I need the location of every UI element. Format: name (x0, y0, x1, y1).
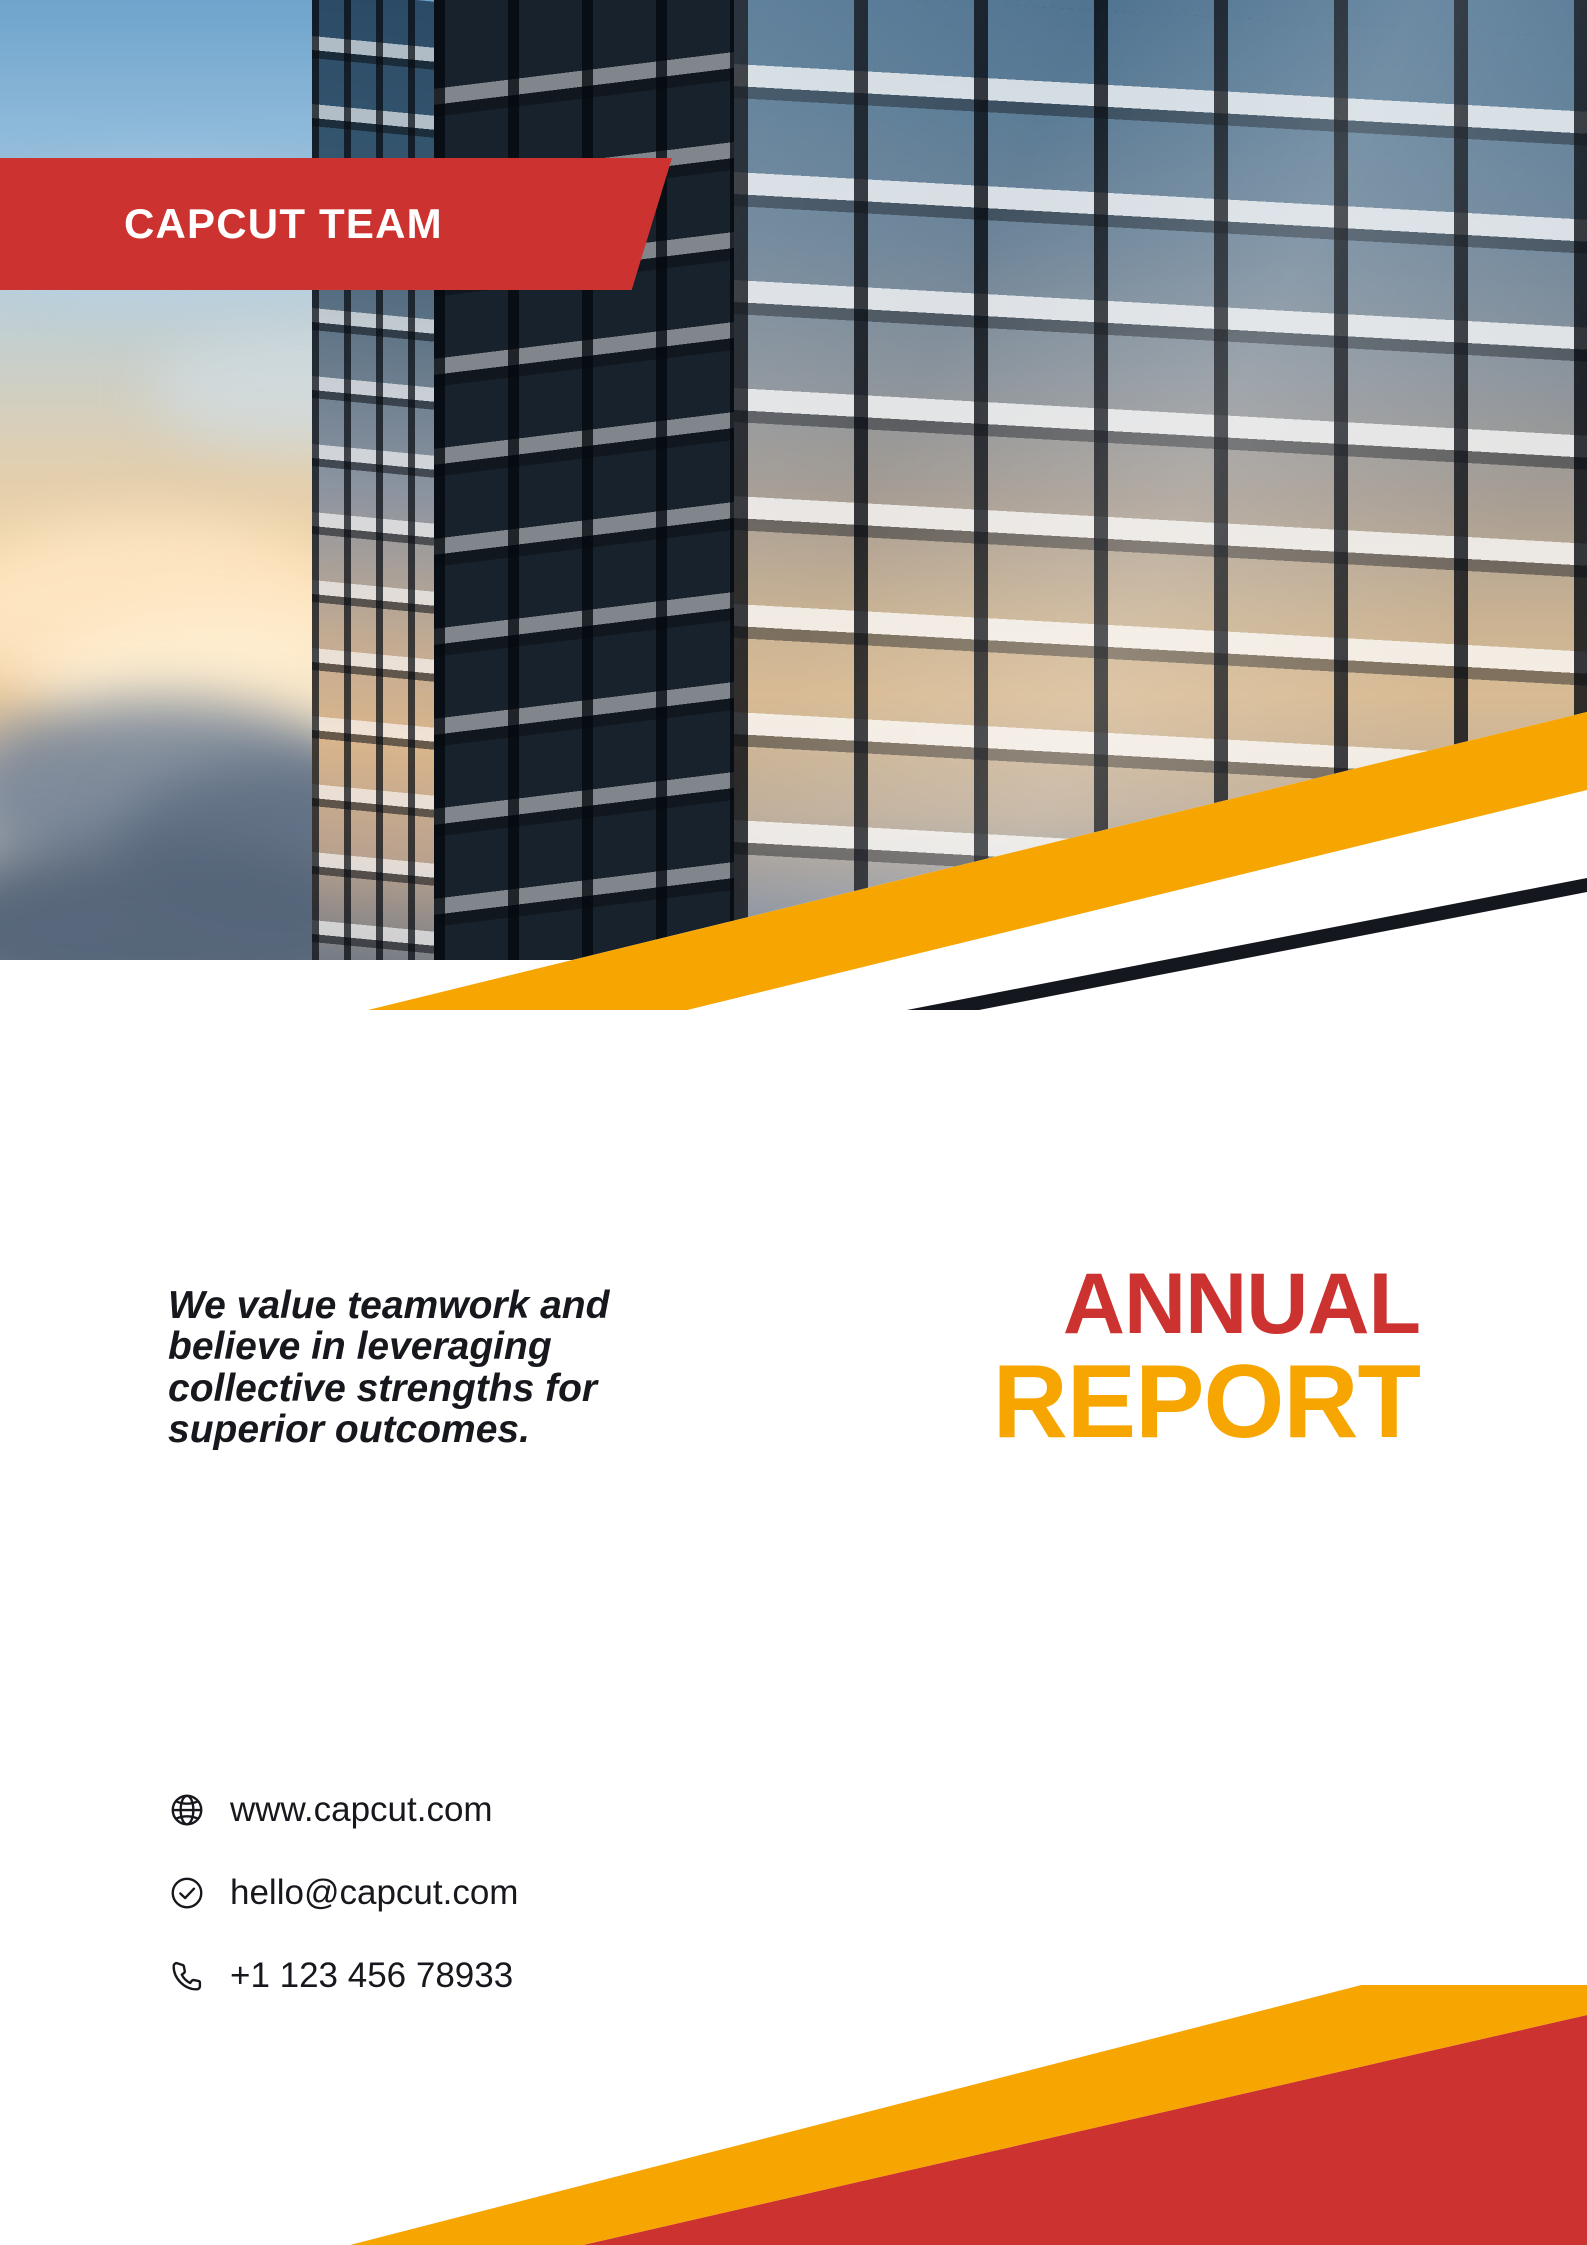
headline-line-annual: ANNUAL (780, 1262, 1420, 1346)
left-mullions (312, 0, 434, 960)
team-banner-label: CAPCUT TEAM (124, 200, 443, 248)
report-cover-page: CAPCUT TEAM We value teamwork and believ… (0, 0, 1587, 2245)
globe-icon (166, 1789, 208, 1831)
page-title: ANNUAL REPORT (780, 1262, 1420, 1454)
hero-photo (0, 0, 1587, 960)
contact-label-website: www.capcut.com (230, 1790, 493, 1830)
shaft-mullions (434, 0, 734, 960)
bottom-red-wedge (583, 2015, 1587, 2245)
contact-row-email[interactable]: hello@capcut.com (166, 1851, 518, 1934)
year-badge-label: 2024 (1219, 1922, 1353, 1993)
office-tower (312, 0, 1587, 960)
check-circle-icon (166, 1872, 208, 1914)
contact-list: www.capcut.com hello@capcut.com +1 123 4… (166, 1768, 518, 2017)
tagline-text: We value teamwork and believe in leverag… (168, 1285, 638, 1450)
team-banner: CAPCUT TEAM (0, 158, 672, 290)
contact-row-phone[interactable]: +1 123 456 78933 (166, 1934, 518, 2017)
contact-label-email: hello@capcut.com (230, 1873, 518, 1913)
phone-icon (166, 1955, 208, 1997)
headline-line-report: REPORT (780, 1352, 1420, 1454)
year-badge: 2024 (1145, 1816, 1427, 2098)
contact-row-website[interactable]: www.capcut.com (166, 1768, 518, 1851)
glass-reflection (734, 0, 1587, 960)
contact-label-phone: +1 123 456 78933 (230, 1956, 513, 1996)
